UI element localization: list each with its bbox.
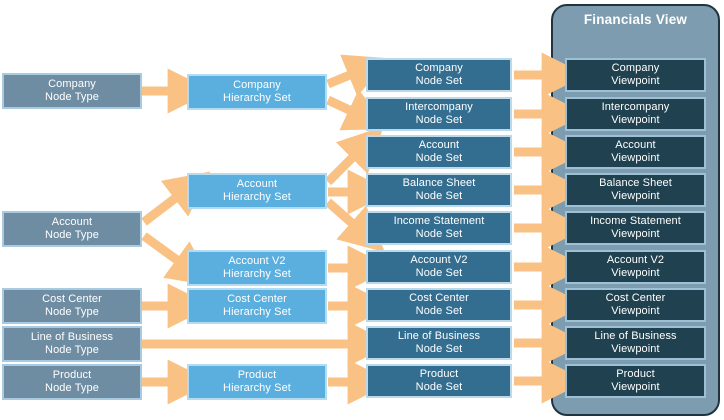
viewpoint-intercompany[interactable]: Intercompany Viewpoint [565,97,706,131]
viewpoint-cost-center[interactable]: Cost Center Viewpoint [565,288,706,322]
viewpoint-balance-sheet[interactable]: Balance Sheet Viewpoint [565,173,706,207]
viewpoint-account-v2[interactable]: Account V2 Viewpoint [565,250,706,284]
node-set-balance-sheet[interactable]: Balance Sheet Node Set [366,173,512,207]
hierarchy-set-cost-center[interactable]: Cost Center Hierarchy Set [188,289,326,323]
hierarchy-set-company[interactable]: Company Hierarchy Set [188,75,326,109]
node-type-line-of-business[interactable]: Line of Business Node Type [3,327,141,361]
node-set-intercompany[interactable]: Intercompany Node Set [366,97,512,131]
node-type-account[interactable]: Account Node Type [3,212,141,246]
node-set-account[interactable]: Account Node Set [366,135,512,169]
viewpoint-product[interactable]: Product Viewpoint [565,364,706,398]
node-set-income-statement[interactable]: Income Statement Node Set [366,211,512,245]
diagram-canvas: Financials View [0,0,724,420]
viewpoint-line-of-business[interactable]: Line of Business Viewpoint [565,326,706,360]
hierarchy-set-product[interactable]: Product Hierarchy Set [188,365,326,399]
viewpoint-company[interactable]: Company Viewpoint [565,58,706,92]
node-set-company[interactable]: Company Node Set [366,58,512,92]
hierarchy-set-account[interactable]: Account Hierarchy Set [188,174,326,208]
node-type-company[interactable]: Company Node Type [3,74,141,108]
node-set-product[interactable]: Product Node Set [366,364,512,398]
viewpoint-income-statement[interactable]: Income Statement Viewpoint [565,211,706,245]
node-type-product[interactable]: Product Node Type [3,365,141,399]
node-set-line-of-business[interactable]: Line of Business Node Set [366,326,512,360]
node-set-account-v2[interactable]: Account V2 Node Set [366,250,512,284]
viewpoint-account[interactable]: Account Viewpoint [565,135,706,169]
node-set-cost-center[interactable]: Cost Center Node Set [366,288,512,322]
hierarchy-set-account-v2[interactable]: Account V2 Hierarchy Set [188,251,326,285]
financials-view-title: Financials View [551,12,720,27]
node-type-cost-center[interactable]: Cost Center Node Type [3,289,141,323]
